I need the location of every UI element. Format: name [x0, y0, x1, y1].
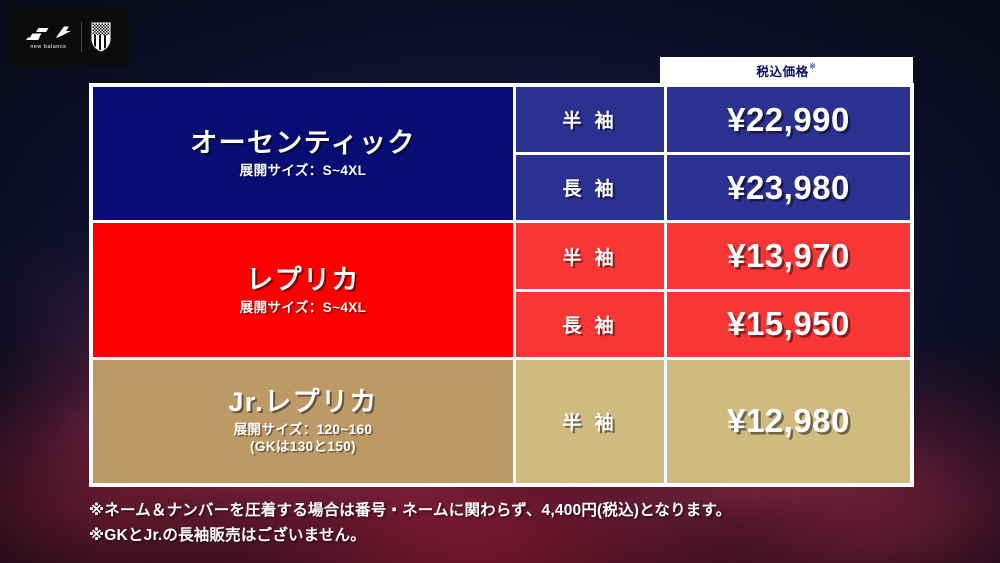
price-header-asterisk: ※: [809, 61, 817, 71]
sleeve-label: 長 袖: [516, 155, 664, 220]
category-size-note: 展開サイズ：S~4XL: [240, 299, 367, 316]
price-value: ¥12,980: [667, 360, 910, 483]
category-title: Jr.レプリカ: [228, 387, 377, 418]
price-value: ¥23,980: [667, 155, 910, 220]
sleeve-label: 半 袖: [516, 223, 664, 288]
price-column-jr-replica: ¥12,980: [667, 360, 910, 483]
category-size-note: 展開サイズ：S~4XL: [240, 162, 367, 179]
price-table-grid: オーセンティック 展開サイズ：S~4XL 半 袖 長 袖 ¥22,990 ¥23…: [93, 87, 910, 483]
category-size-note: 展開サイズ：120~160: [234, 421, 373, 438]
footnote-line: ※GKとJr.の長袖販売はございません。: [89, 523, 919, 548]
category-cell-jr-replica: Jr.レプリカ 展開サイズ：120~160 (GKは130と150): [93, 360, 513, 483]
sleeve-label: 長 袖: [516, 292, 664, 357]
price-header-banner: 税込価格※: [660, 57, 913, 84]
new-balance-wordmark: new balance: [30, 44, 66, 50]
category-cell-replica: レプリカ 展開サイズ：S~4XL: [93, 223, 513, 356]
sleeve-column-jr-replica: 半 袖: [516, 360, 664, 483]
brand-logo-plate: new balance: [7, 7, 129, 67]
new-balance-nb-icon: [26, 25, 72, 42]
price-header-label: 税込価格※: [756, 61, 816, 80]
category-cell-authentic: オーセンティック 展開サイズ：S~4XL: [93, 87, 513, 220]
sleeve-label: 半 袖: [516, 87, 664, 152]
price-value: ¥15,950: [667, 292, 910, 357]
price-table: オーセンティック 展開サイズ：S~4XL 半 袖 長 袖 ¥22,990 ¥23…: [89, 83, 914, 487]
sleeve-label: 半 袖: [516, 360, 664, 483]
footnotes: ※ネーム＆ナンバーを圧着する場合は番号・ネームに関わらず、4,400円(税込)と…: [89, 498, 919, 548]
sleeve-column-replica: 半 袖 長 袖: [516, 223, 664, 356]
sleeve-column-authentic: 半 袖 長 袖: [516, 87, 664, 220]
category-size-note-2: (GKは130と150): [250, 438, 356, 455]
club-crest-icon: [91, 22, 111, 52]
price-value: ¥22,990: [667, 87, 910, 152]
price-column-replica: ¥13,970 ¥15,950: [667, 223, 910, 356]
price-header-text: 税込価格: [756, 65, 808, 79]
category-title: オーセンティック: [190, 128, 416, 159]
logo-divider: [81, 22, 82, 52]
footnote-line: ※ネーム＆ナンバーを圧着する場合は番号・ネームに関わらず、4,400円(税込)と…: [89, 498, 919, 523]
category-title: レプリカ: [246, 265, 360, 296]
new-balance-logo: new balance: [26, 25, 72, 50]
price-column-authentic: ¥22,990 ¥23,980: [667, 87, 910, 220]
price-value: ¥13,970: [667, 223, 910, 288]
